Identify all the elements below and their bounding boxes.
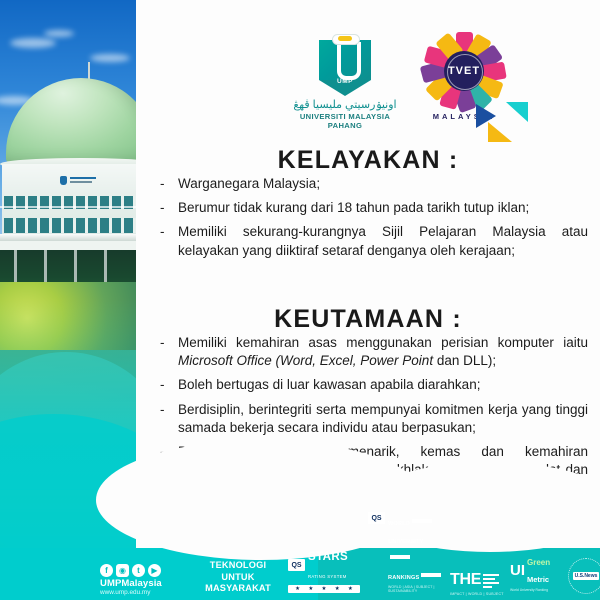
section-heading-keutamaan: KEUTAMAAN :	[136, 305, 600, 334]
list-item: - Boleh bertugas di luar kawasan apabila…	[160, 376, 588, 394]
social-block: f ◉ t ▶ UMPMalaysia www.ump.edu.my	[100, 564, 186, 596]
the-bar	[483, 586, 492, 589]
building-deck	[0, 241, 136, 250]
the-rankings-logo: THE	[450, 573, 506, 590]
the-wordmark: THE	[450, 573, 481, 587]
shield-cap-inner	[338, 36, 352, 41]
bullet-dash: -	[160, 223, 178, 259]
website-url[interactable]: www.ump.edu.my	[100, 589, 186, 596]
list-item-text-post: dan DLL);	[433, 353, 496, 368]
bullet-dash: -	[160, 334, 178, 370]
list-item: - Memiliki sekurang-kurangnya Sijil Pela…	[160, 223, 588, 259]
qs-badge: QS	[368, 512, 385, 524]
list-item: - Memiliki kemahiran asas menggunakan pe…	[160, 334, 588, 370]
tvet-core-ring	[447, 54, 483, 90]
ui-greenmetric-row: UI Green Metric	[510, 553, 568, 587]
twitter-icon[interactable]: t	[132, 564, 145, 577]
tagline-line-2: UNTUK	[196, 572, 280, 583]
usnews-wreath-icon: U.S.News	[568, 558, 600, 594]
ump-shield-label: UMP	[319, 78, 371, 85]
star-icon: ★	[322, 586, 327, 592]
ui-greenmetric-logo: UI Green Metric World University Ranking	[510, 553, 568, 592]
cloud	[90, 54, 130, 62]
the-bar	[483, 578, 495, 581]
cloud	[44, 30, 74, 37]
qs-stars-sub: RATING SYSTEM	[308, 574, 347, 579]
tvet-burst-icon: TVET	[423, 32, 505, 110]
railing	[0, 206, 136, 208]
poster-canvas: UMP اونيۏرسيتي مليسيا ڤهڠ UNIVERSITI MAL…	[0, 0, 600, 600]
logo-strip: UMP اونيۏرسيتي مليسيا ڤهڠ UNIVERSITI MAL…	[136, 28, 600, 140]
tagline-block: TEKNOLOGI UNTUK MASYARAKAT	[196, 560, 280, 594]
greenmetric-subtitle: World University Ranking	[510, 588, 568, 592]
list-item-text: Berumur tidak kurang dari 18 tahun pada …	[178, 199, 588, 217]
cloud	[10, 38, 56, 48]
list-item-text-pre: Memiliki kemahiran asas menggunakan peri…	[178, 335, 588, 350]
instagram-icon[interactable]: ◉	[116, 564, 129, 577]
wur-bar	[412, 519, 432, 523]
tagline-line-3: MASYARAKAT	[196, 583, 280, 594]
greenmetric-words: Green Metric	[527, 553, 550, 587]
qs-badge: QS	[288, 559, 305, 571]
list-item-text: Boleh bertugas di luar kawasan apabila d…	[178, 376, 588, 394]
qs-stars-rating-bar: ★ ★ ★ ★ ★	[288, 585, 360, 593]
qs-world-university-rankings-logo: QS WORLD UNIVERSITY RANKINGS WORLD | ASI…	[368, 512, 442, 593]
tagline-line-1: TEKNOLOGI	[196, 560, 280, 571]
section-heading-kelayakan: KELAYAKAN :	[136, 146, 600, 175]
list-item-text-italic: Microsoft Office (Word, Excel, Power Poi…	[178, 353, 433, 368]
qs-wur-footnote: WORLD | ASIA | SUBJECT | SUSTAINABILITY	[388, 585, 442, 593]
qs-stars-top-row: QS STARS RATING SYSTEM	[288, 547, 360, 583]
the-footnote: IMPACT | WORLD | SUBJECT	[450, 592, 504, 596]
qs-wur-line-2: UNIVERSITY	[388, 539, 424, 545]
bullet-dash: -	[160, 199, 178, 217]
usnews-logo: U.S.News	[566, 558, 600, 594]
facebook-icon[interactable]: f	[100, 564, 113, 577]
ump-shield-icon: UMP	[319, 34, 371, 96]
list-item-text: Memiliki sekurang-kurangnya Sijil Pelaja…	[178, 223, 588, 259]
bullet-dash: -	[160, 175, 178, 193]
bullet-dash: -	[160, 376, 178, 394]
greenmetric-word-metric: Metric	[527, 575, 549, 584]
ump-university-name: UNIVERSITI MALAYSIA PAHANG	[286, 112, 404, 130]
list-item-text: Warganegara Malaysia;	[178, 175, 588, 193]
wur-bar	[421, 573, 441, 577]
star-icon: ★	[295, 586, 300, 592]
emblem-cyan-triangle	[506, 102, 528, 122]
star-icon: ★	[348, 586, 353, 592]
social-icon-row: f ◉ t ▶	[100, 564, 186, 577]
usnews-badge-label: U.S.News	[573, 572, 600, 580]
window-row	[4, 218, 136, 233]
star-icon: ★	[335, 586, 340, 592]
qs-wur-line-1: WORLD	[388, 521, 410, 527]
list-item-text: Memiliki kemahiran asas menggunakan peri…	[178, 334, 588, 370]
qs-stars-logo: QS STARS RATING SYSTEM ★ ★ ★ ★ ★	[288, 547, 360, 593]
the-bar	[483, 582, 499, 585]
building-ump-logo-icon	[60, 176, 67, 185]
list-item: - Berumur tidak kurang dari 18 tahun pad…	[160, 199, 588, 217]
malaysia-government-emblem-icon	[476, 102, 530, 146]
list-item: - Berdisiplin, berintegriti serta mempun…	[160, 401, 588, 437]
youtube-icon[interactable]: ▶	[148, 564, 161, 577]
qs-wur-line-3: RANKINGS	[388, 575, 419, 581]
building-sign-line	[70, 177, 96, 179]
social-handle: UMPMalaysia	[100, 578, 186, 589]
emblem-yellow-triangle	[488, 122, 512, 142]
greenmetric-word-green: Green	[527, 558, 550, 567]
ui-letters: UI	[510, 563, 525, 578]
qs-wur-lines: WORLD UNIVERSITY RANKINGS WORLD | ASIA |…	[388, 512, 442, 593]
the-bars-icon	[483, 574, 499, 590]
wur-bar	[390, 555, 410, 559]
the-bar	[483, 574, 499, 577]
list-item-text: Berdisiplin, berintegriti serta mempunya…	[178, 401, 588, 437]
bullet-dash: -	[160, 401, 178, 437]
kelayakan-list: - Warganegara Malaysia; - Berumur tidak …	[160, 175, 588, 266]
ump-jawi-text: اونيۏرسيتي مليسيا ڤهڠ	[286, 99, 404, 111]
shield-u-letter	[337, 42, 361, 80]
qs-stars-word: STARS	[308, 551, 348, 563]
building-ledge	[0, 234, 136, 241]
star-icon: ★	[308, 586, 313, 592]
building-sign-line	[70, 181, 92, 183]
list-item: - Warganegara Malaysia;	[160, 175, 588, 193]
ump-logo: UMP اونيۏرسيتي مليسيا ڤهڠ UNIVERSITI MAL…	[286, 34, 404, 130]
